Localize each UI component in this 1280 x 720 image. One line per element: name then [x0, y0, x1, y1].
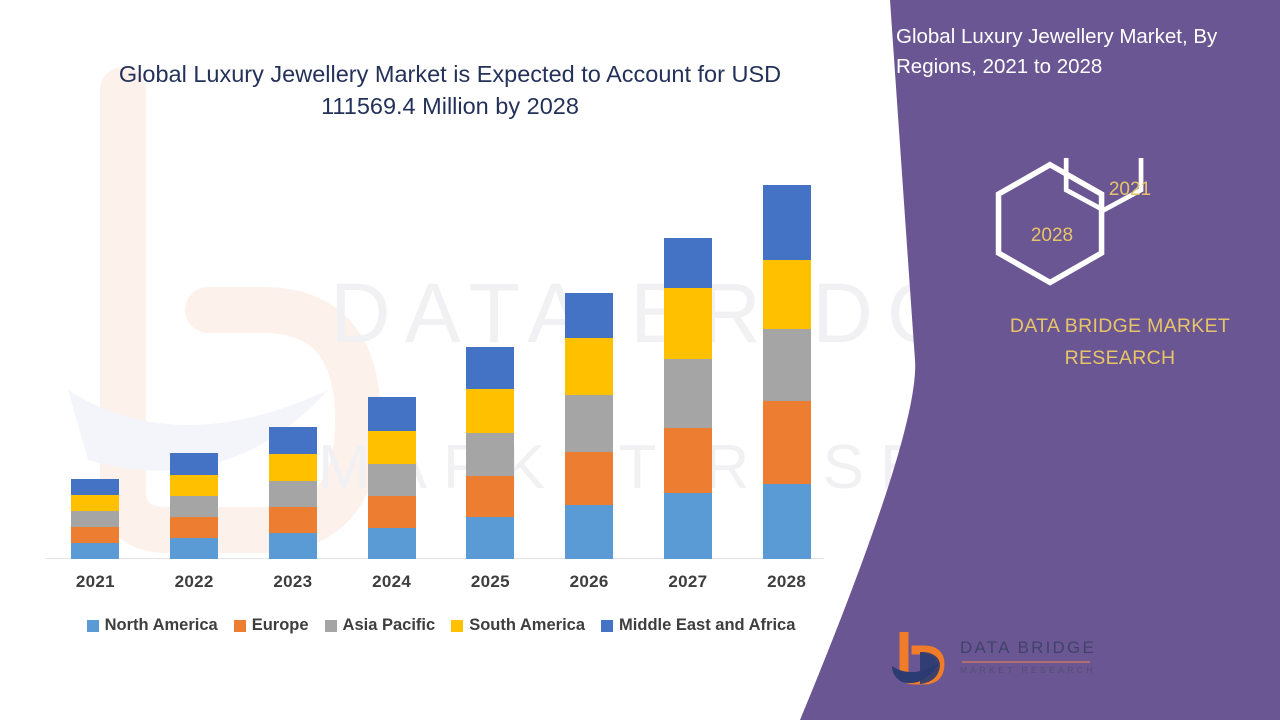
bar-segment[interactable]	[763, 484, 811, 559]
stacked-bar[interactable]	[763, 185, 811, 559]
bar-segment[interactable]	[763, 185, 811, 260]
x-axis-tick-label: 2026	[540, 572, 639, 592]
x-axis-tick-label: 2024	[342, 572, 441, 592]
panel-title: Global Luxury Jewellery Market, By Regio…	[870, 22, 1270, 82]
x-axis-tick-label: 2021	[46, 572, 145, 592]
stacked-bar[interactable]	[565, 293, 613, 559]
bar-segment[interactable]	[664, 288, 712, 359]
bar-segment[interactable]	[763, 401, 811, 484]
bar-segment[interactable]	[466, 433, 514, 476]
bar-segment[interactable]	[466, 389, 514, 433]
hexagon-label-2021: 2021	[1095, 172, 1165, 208]
bar-group	[342, 160, 441, 559]
footer-logo: DATA BRIDGE MARKET RESEARCH	[890, 632, 1105, 692]
stacked-bar[interactable]	[368, 397, 416, 559]
x-axis-tick-label: 2022	[145, 572, 244, 592]
footer-logo-text: DATA BRIDGE MARKET RESEARCH	[960, 638, 1096, 675]
stacked-bar[interactable]	[71, 479, 119, 559]
bar-segment[interactable]	[368, 397, 416, 431]
bar-segment[interactable]	[664, 493, 712, 559]
stacked-bar[interactable]	[269, 427, 317, 559]
bar-segment[interactable]	[170, 453, 218, 475]
legend-item[interactable]: Asia Pacific	[325, 616, 436, 635]
page-title: Global Luxury Jewellery Market is Expect…	[80, 58, 820, 122]
legend-label: Europe	[252, 616, 309, 635]
footer-logo-title: DATA BRIDGE	[960, 638, 1096, 658]
x-axis-tick-label: 2023	[244, 572, 343, 592]
bar-group	[737, 160, 836, 559]
bar-segment[interactable]	[71, 527, 119, 543]
bar-segment[interactable]	[269, 481, 317, 507]
bar-group	[145, 160, 244, 559]
stacked-bar[interactable]	[466, 347, 514, 559]
chart-x-axis: 20212022202320242025202620272028	[46, 572, 836, 592]
bar-segment[interactable]	[269, 427, 317, 454]
slide-canvas: DATA BRIDGE MARKET RESEARCH Global Luxur…	[0, 0, 1280, 720]
brand-line-2: RESEARCH	[975, 342, 1265, 374]
bar-segment[interactable]	[269, 507, 317, 533]
bar-segment[interactable]	[170, 475, 218, 496]
x-axis-tick-label: 2025	[441, 572, 540, 592]
bar-segment[interactable]	[269, 454, 317, 481]
bar-segment[interactable]	[71, 479, 119, 495]
bar-segment[interactable]	[368, 496, 416, 528]
logo-mark-icon	[890, 632, 956, 690]
bar-segment[interactable]	[170, 538, 218, 559]
bar-segment[interactable]	[565, 338, 613, 396]
bar-group	[441, 160, 540, 559]
stacked-bar[interactable]	[170, 453, 218, 559]
legend-swatch-icon	[451, 620, 463, 632]
footer-logo-rule	[962, 661, 1090, 663]
bar-segment[interactable]	[71, 511, 119, 527]
legend-swatch-icon	[325, 620, 337, 632]
bar-segment[interactable]	[763, 260, 811, 329]
bar-segment[interactable]	[664, 428, 712, 493]
chart-legend: North AmericaEuropeAsia PacificSouth Ame…	[46, 616, 836, 635]
bar-segment[interactable]	[466, 476, 514, 517]
bar-segment[interactable]	[368, 528, 416, 559]
bar-segment[interactable]	[664, 238, 712, 288]
bar-group	[540, 160, 639, 559]
bar-segment[interactable]	[466, 347, 514, 390]
footer-logo-subtitle: MARKET RESEARCH	[960, 665, 1096, 675]
legend-item[interactable]: Middle East and Africa	[601, 616, 795, 635]
bar-segment[interactable]	[565, 395, 613, 452]
bar-segment[interactable]	[170, 517, 218, 538]
x-axis-tick-label: 2027	[639, 572, 738, 592]
legend-item[interactable]: Europe	[234, 616, 309, 635]
bar-segment[interactable]	[71, 495, 119, 511]
bar-group	[46, 160, 145, 559]
bar-segment[interactable]	[466, 517, 514, 559]
hexagon-label-2028: 2028	[1015, 218, 1089, 254]
legend-label: Asia Pacific	[343, 616, 436, 635]
legend-label: South America	[469, 616, 585, 635]
bar-segment[interactable]	[565, 505, 613, 559]
legend-label: North America	[105, 616, 218, 635]
brand-line-1: DATA BRIDGE MARKET	[975, 310, 1265, 342]
bar-segment[interactable]	[170, 496, 218, 517]
legend-item[interactable]: South America	[451, 616, 585, 635]
bar-segment[interactable]	[269, 533, 317, 559]
bar-segment[interactable]	[664, 359, 712, 429]
brand-name: DATA BRIDGE MARKET RESEARCH	[975, 310, 1265, 374]
stacked-bar[interactable]	[664, 238, 712, 559]
x-axis-tick-label: 2028	[737, 572, 836, 592]
bar-group	[244, 160, 343, 559]
bar-segment[interactable]	[71, 543, 119, 559]
legend-swatch-icon	[234, 620, 246, 632]
bar-segment[interactable]	[368, 464, 416, 496]
legend-swatch-icon	[601, 620, 613, 632]
legend-swatch-icon	[87, 620, 99, 632]
bar-segment[interactable]	[763, 329, 811, 402]
legend-item[interactable]: North America	[87, 616, 218, 635]
bar-segment[interactable]	[565, 452, 613, 505]
chart-plot-area	[46, 160, 836, 559]
bar-segment[interactable]	[368, 431, 416, 464]
legend-label: Middle East and Africa	[619, 616, 795, 635]
bar-segment[interactable]	[565, 293, 613, 338]
bar-group	[639, 160, 738, 559]
